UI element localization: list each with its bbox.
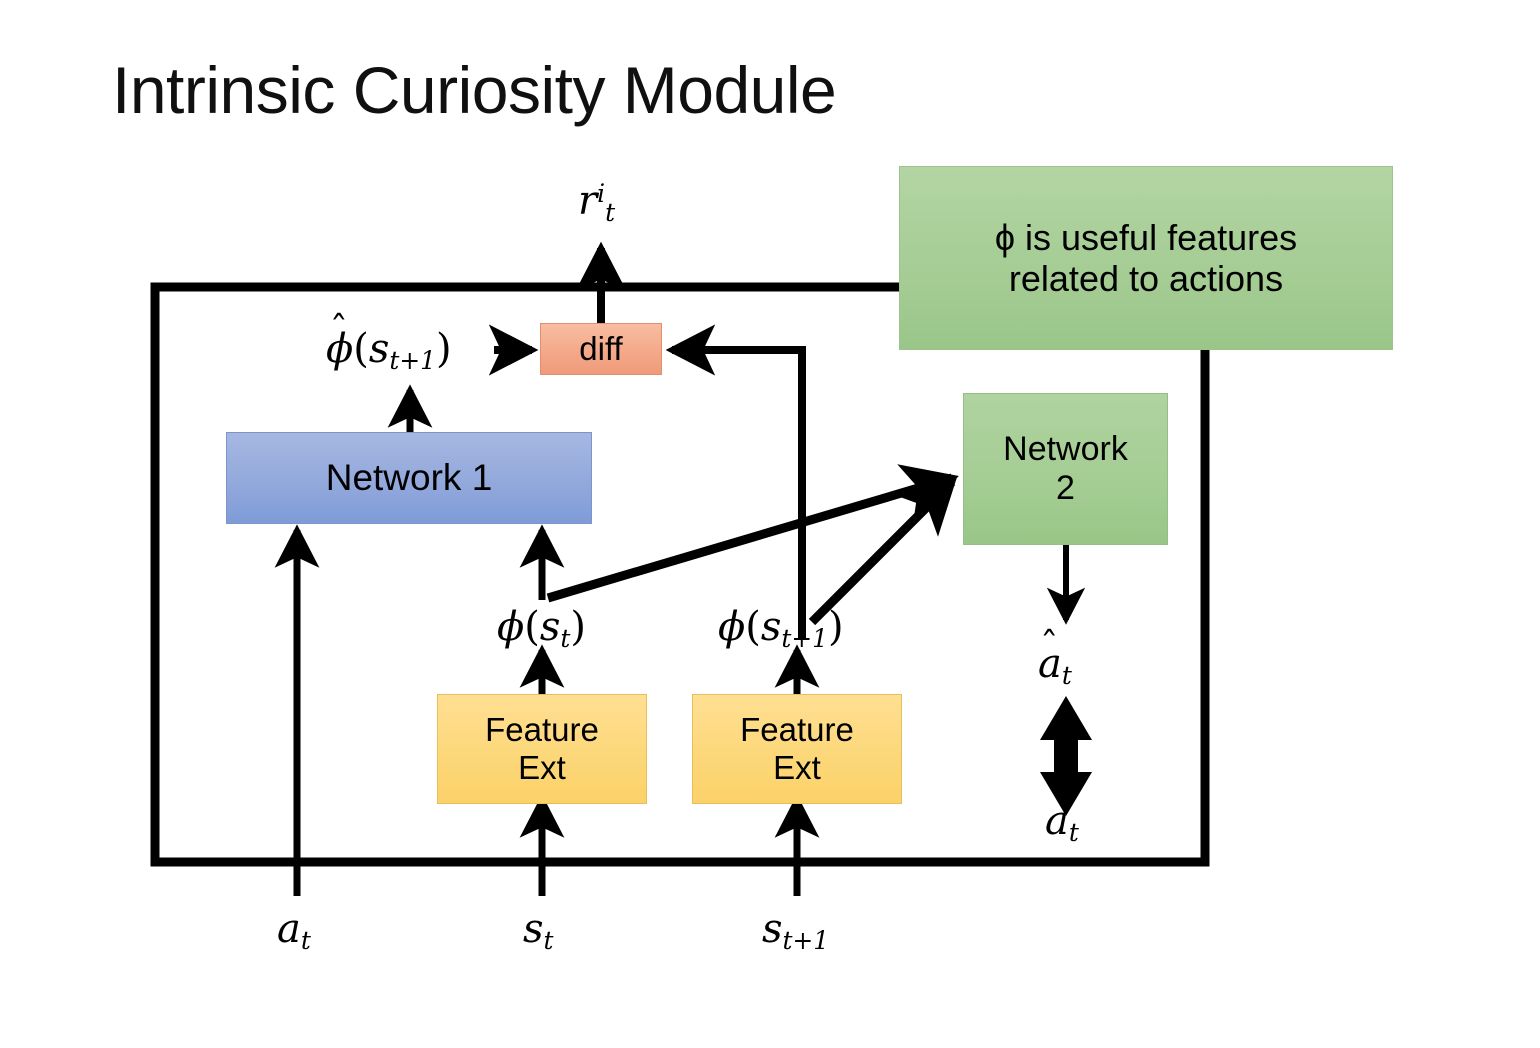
phi-symbol: ϕ	[718, 604, 745, 650]
feature-extractor-1-label-line2: Ext	[518, 749, 566, 787]
a-base: a	[1045, 798, 1069, 844]
hat-mark: ˆ	[330, 308, 348, 351]
arg-base: s	[540, 604, 561, 650]
diff-label: diff	[579, 330, 622, 368]
feature-extractor-1-box[interactable]: Feature Ext	[437, 694, 647, 804]
network-2-label-line1: Network	[1003, 430, 1128, 469]
annotation-note-line2: related to actions	[1009, 258, 1283, 299]
phi-hat-wrap: ˆϕ	[326, 326, 353, 372]
a-sub: t	[301, 926, 311, 955]
diff-box[interactable]: diff	[540, 323, 662, 375]
label-phi-hat-s-t-plus-1: ˆϕ(st+1)	[326, 326, 452, 375]
annotation-note-line1: ϕ is useful features	[995, 217, 1297, 258]
connector-layer	[0, 0, 1540, 1048]
label-phi-s-t-plus-1: ϕ(st+1)	[718, 604, 844, 653]
a-base: a	[277, 906, 301, 952]
s-sub: t+1	[783, 926, 830, 955]
network-2-box[interactable]: Network 2	[963, 393, 1168, 545]
paren-close: )	[828, 604, 844, 650]
s-base: s	[523, 906, 544, 952]
diagram-canvas: Intrinsic Curiosity Module	[0, 0, 1540, 1048]
label-input-s-t-plus-1: st+1	[762, 906, 829, 955]
label-intrinsic-reward: rit	[578, 178, 615, 227]
hat-mark: ˆ	[1040, 624, 1058, 667]
arg-base: s	[369, 326, 390, 372]
paren-open: (	[524, 604, 540, 650]
a-sub: t	[1069, 818, 1079, 847]
label-a-hat-t: ˆat	[1038, 641, 1072, 690]
arg-sub: t	[560, 624, 570, 653]
rti-base: r	[578, 178, 597, 224]
paren-open: (	[353, 326, 369, 372]
label-a-t-actual: at	[1045, 798, 1079, 847]
feature-extractor-2-label-line2: Ext	[773, 749, 821, 787]
rti-sup: i	[597, 179, 605, 208]
network-1-label: Network 1	[326, 457, 493, 500]
s-base: s	[762, 906, 783, 952]
feature-extractor-2-label-line1: Feature	[740, 711, 854, 749]
rti-sub: t	[605, 198, 615, 227]
feature-extractor-1-label-line1: Feature	[485, 711, 599, 749]
paren-open: (	[745, 604, 761, 650]
edge-phi-st1-to-diff	[672, 350, 802, 638]
label-input-a-t: at	[277, 906, 311, 955]
label-phi-s-t: ϕ(st)	[497, 604, 586, 653]
feature-extractor-2-box[interactable]: Feature Ext	[692, 694, 902, 804]
network-1-box[interactable]: Network 1	[226, 432, 592, 524]
a-sub: t	[1062, 661, 1072, 690]
arg-base: s	[761, 604, 782, 650]
network-2-label-line2: 2	[1056, 469, 1075, 508]
s-sub: t	[544, 926, 554, 955]
arg-sub: t+1	[781, 624, 828, 653]
label-input-s-t: st	[523, 906, 554, 955]
arg-sub: t+1	[389, 346, 436, 375]
phi-symbol: ϕ	[497, 604, 524, 650]
annotation-note-box: ϕ is useful features related to actions	[899, 166, 1393, 350]
a-hat-wrap: ˆa	[1038, 641, 1062, 687]
paren-close: )	[436, 326, 452, 372]
paren-close: )	[570, 604, 586, 650]
